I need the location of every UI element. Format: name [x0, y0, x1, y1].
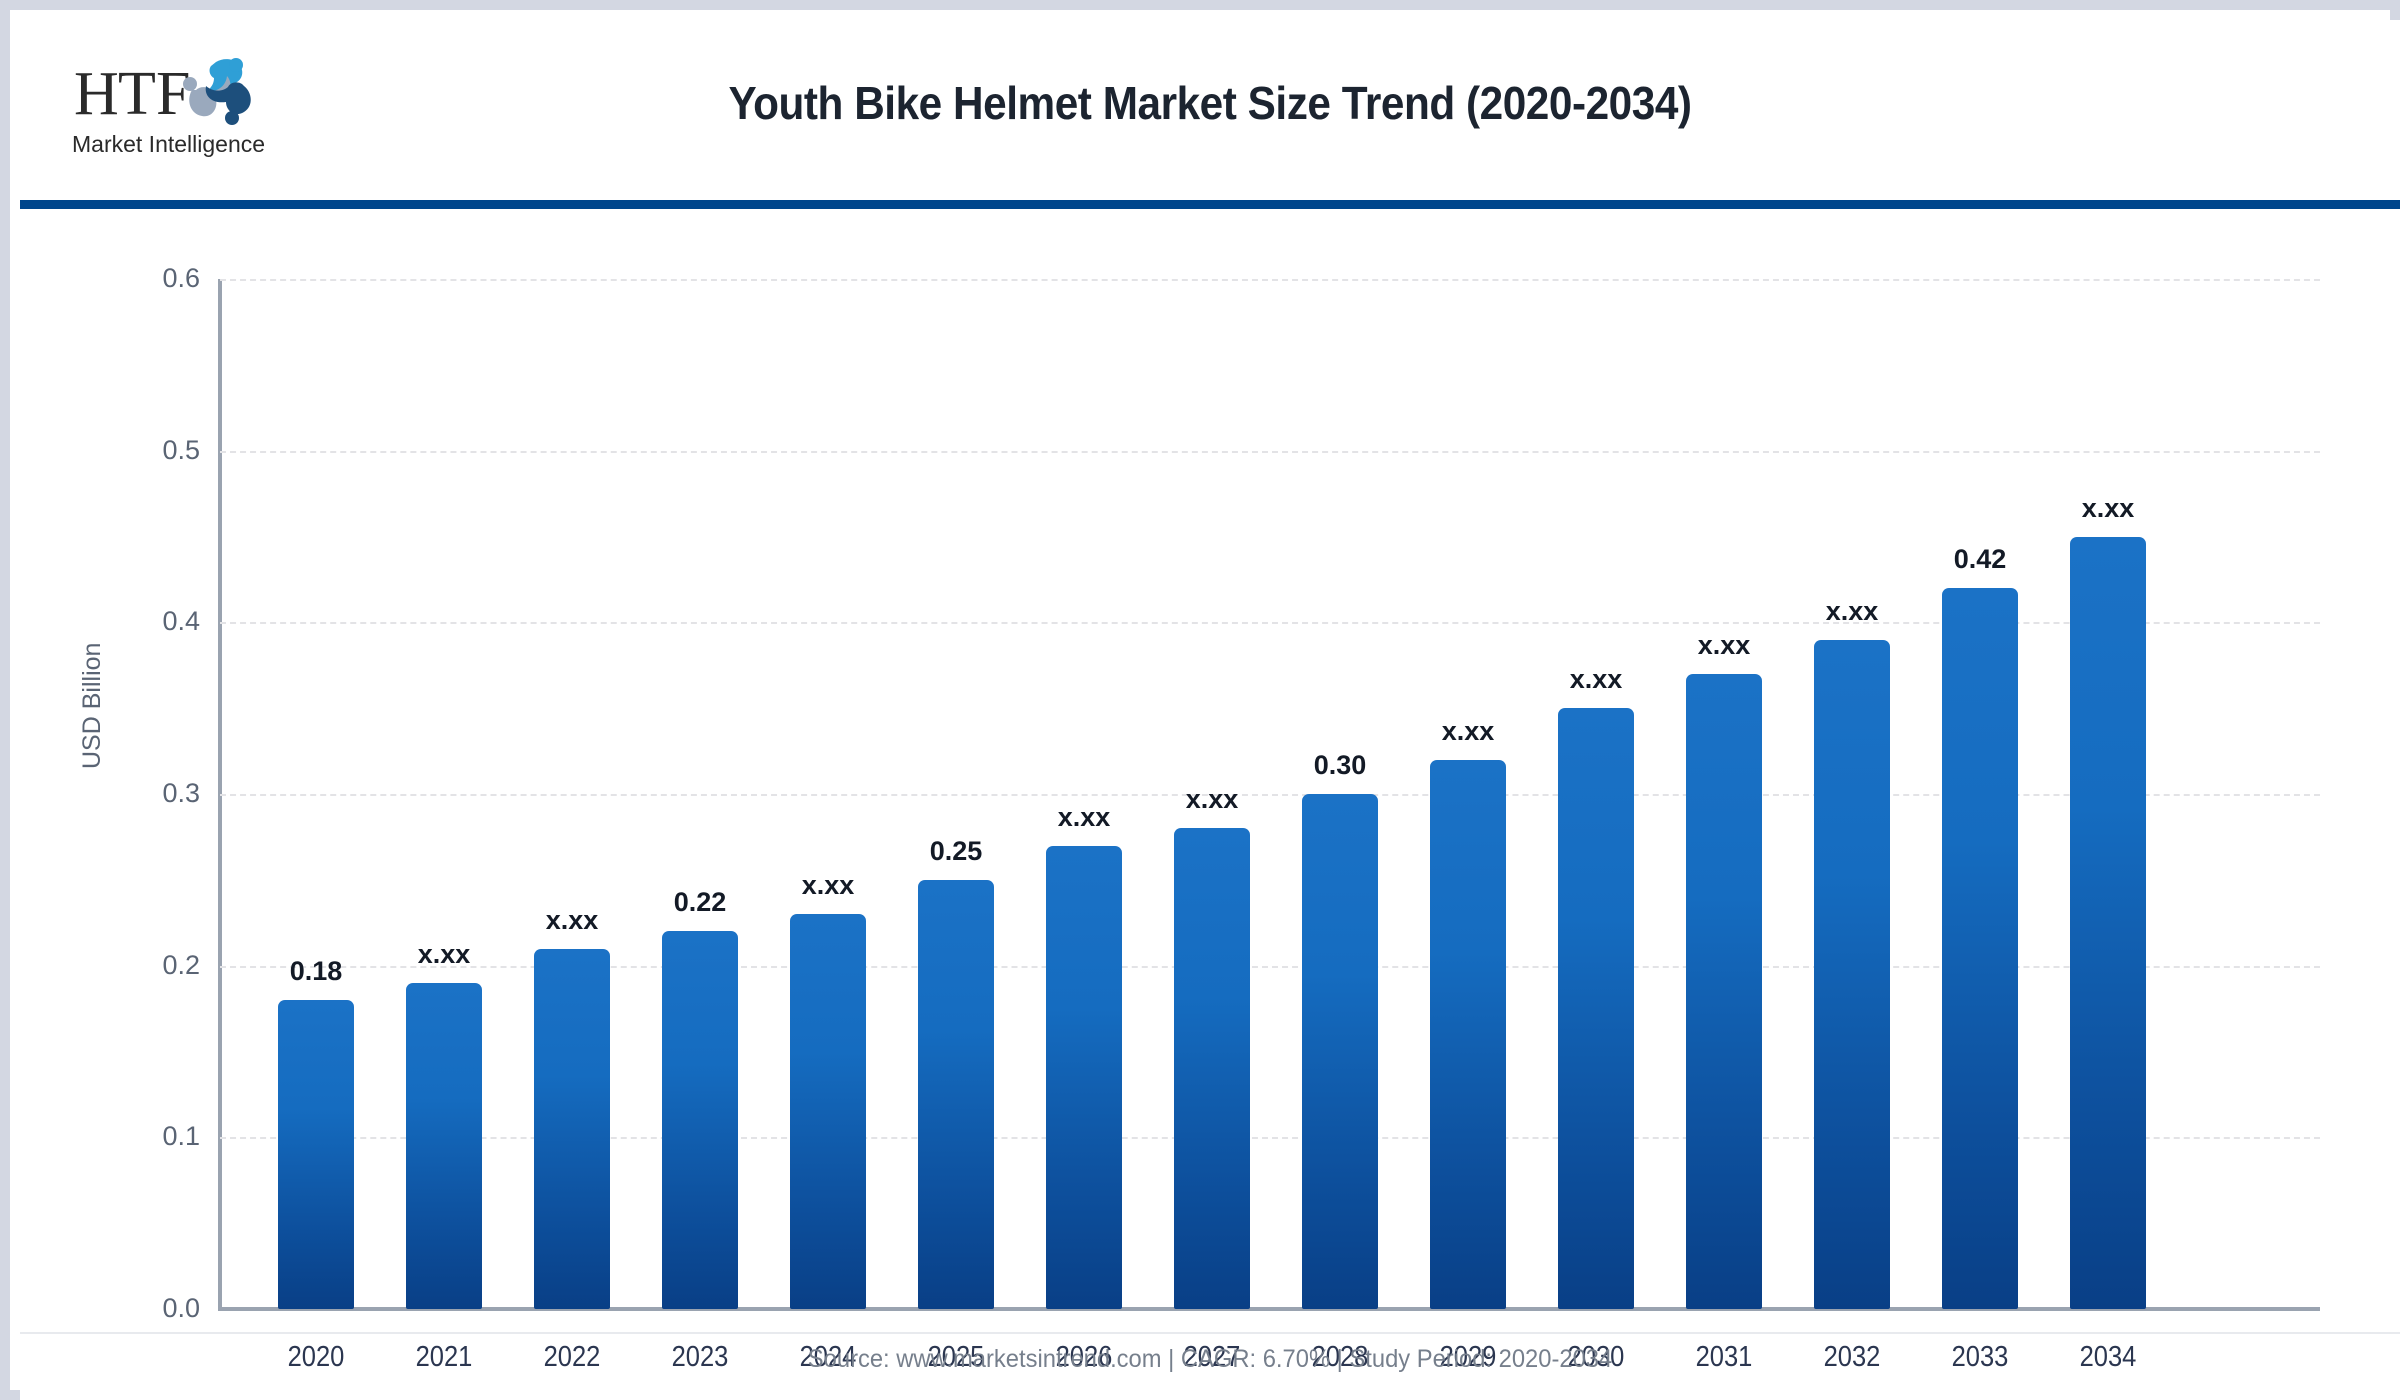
y-axis-tick-label: 0.2 [100, 950, 200, 981]
logo-tagline: Market Intelligence [72, 131, 265, 157]
chart-page: H T F Market Intelligence Youth B [0, 0, 2400, 1400]
bar-column[interactable]: x.xx2029 [1404, 279, 1532, 1309]
bar[interactable] [662, 931, 738, 1309]
bar-column[interactable]: 0.252025 [892, 279, 1020, 1309]
bar-column[interactable]: 0.302028 [1276, 279, 1404, 1309]
bar-column[interactable]: 0.222023 [636, 279, 764, 1309]
bar-column[interactable]: x.xx2030 [1532, 279, 1660, 1309]
footer-divider [20, 1332, 2400, 1334]
bar-column[interactable]: 0.182020 [252, 279, 380, 1309]
bar-value-label: x.xx [2044, 493, 2172, 524]
chart-canvas: 0.00.10.20.30.40.50.6 0.182020x.xx2021x.… [20, 209, 2400, 1400]
bar-column[interactable]: x.xx2022 [508, 279, 636, 1309]
bar-column[interactable]: x.xx2021 [380, 279, 508, 1309]
bar[interactable] [406, 983, 482, 1309]
header: H T F Market Intelligence Youth B [20, 20, 2400, 207]
bar-value-label: 0.18 [252, 956, 380, 987]
bar-value-label: 0.42 [1916, 544, 2044, 575]
y-axis-tick-label: 0.4 [100, 606, 200, 637]
y-axis-tick-label: 0.3 [100, 778, 200, 809]
footer-source-note: Source: www.marketsintrend.com | CAGR: 6… [80, 1345, 2341, 1374]
bar-value-label: x.xx [380, 939, 508, 970]
page-title: Youth Bike Helmet Market Size Trend (202… [115, 76, 2305, 130]
bar[interactable] [1302, 794, 1378, 1309]
y-axis-tick-label: 0.6 [100, 263, 200, 294]
bar-column[interactable]: x.xx2024 [764, 279, 892, 1309]
bar-column[interactable]: x.xx2034 [2044, 279, 2172, 1309]
bar-value-label: x.xx [1532, 664, 1660, 695]
y-axis-tick-label: 0.0 [100, 1293, 200, 1324]
bar-value-label: x.xx [764, 870, 892, 901]
bar[interactable] [790, 914, 866, 1309]
bar-value-label: x.xx [1020, 802, 1148, 833]
y-axis-tick-label: 0.5 [100, 435, 200, 466]
bar[interactable] [1174, 828, 1250, 1309]
bar-column[interactable]: x.xx2027 [1148, 279, 1276, 1309]
bar-column[interactable]: x.xx2031 [1660, 279, 1788, 1309]
bar[interactable] [278, 1000, 354, 1309]
bar[interactable] [2070, 537, 2146, 1310]
bar[interactable] [1558, 708, 1634, 1309]
bar-column[interactable]: x.xx2032 [1788, 279, 1916, 1309]
y-axis-tick-label: 0.1 [100, 1121, 200, 1152]
bar-value-label: 0.25 [892, 836, 1020, 867]
bar-value-label: 0.22 [636, 887, 764, 918]
bar-value-label: x.xx [1660, 630, 1788, 661]
bar[interactable] [534, 949, 610, 1310]
bar-value-label: x.xx [1148, 784, 1276, 815]
bar[interactable] [1430, 760, 1506, 1309]
bar[interactable] [1046, 846, 1122, 1310]
bar[interactable] [1814, 640, 1890, 1310]
plot-area: 0.00.10.20.30.40.50.6 0.182020x.xx2021x.… [210, 279, 2320, 1309]
bar-value-label: x.xx [1788, 596, 1916, 627]
svg-text:H: H [74, 60, 119, 128]
bar-value-label: x.xx [1404, 716, 1532, 747]
bar-column[interactable]: 0.422033 [1916, 279, 2044, 1309]
bar[interactable] [918, 880, 994, 1309]
bar-value-label: x.xx [508, 905, 636, 936]
bar-column[interactable]: x.xx2026 [1020, 279, 1148, 1309]
header-divider [20, 200, 2400, 209]
y-axis-title: USD Billion [78, 643, 107, 769]
bar-value-label: 0.30 [1276, 750, 1404, 781]
bar[interactable] [1942, 588, 2018, 1309]
bar[interactable] [1686, 674, 1762, 1309]
